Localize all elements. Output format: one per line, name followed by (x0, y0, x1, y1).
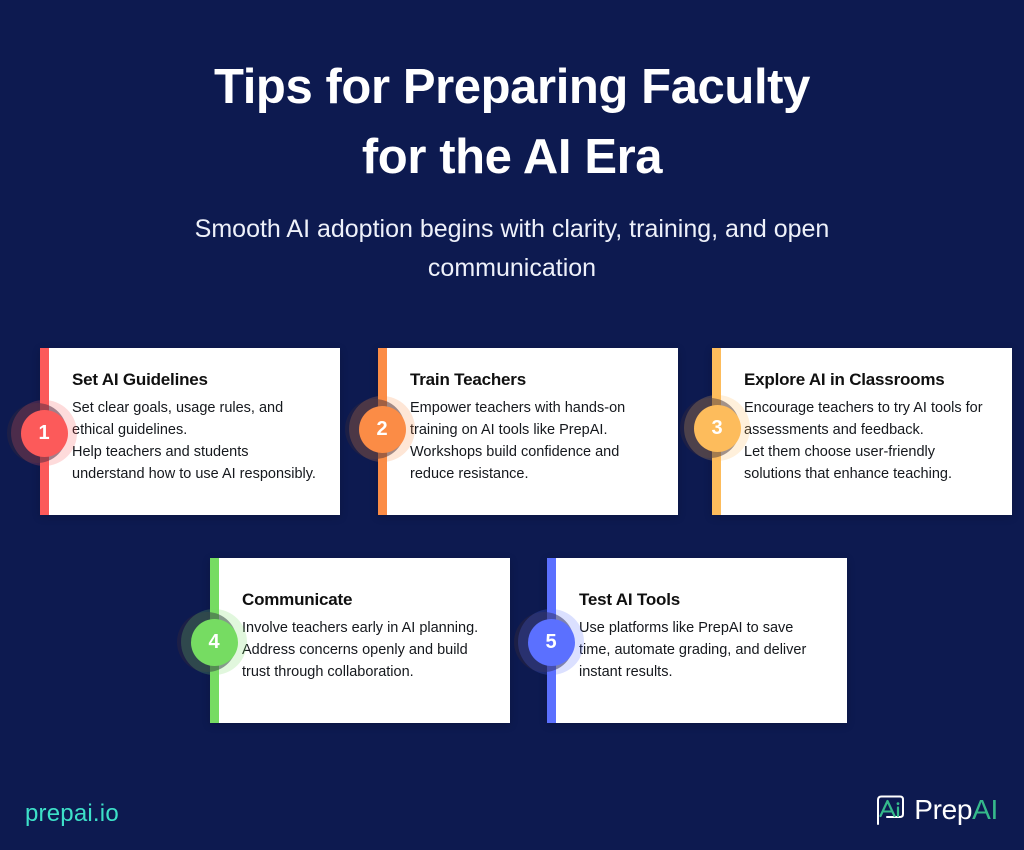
page-title: Tips for Preparing Facultyfor the AI Era (0, 52, 1024, 192)
tip-card-5-number: 5 (545, 631, 556, 654)
prepai-brand-logo: PrepAI (875, 794, 998, 826)
tip-card-2-number-badge: 2 (349, 396, 415, 462)
tip-card-1: Set AI Guidelines Set clear goals, usage… (40, 348, 340, 515)
tip-card-1-badge-circle: 1 (21, 410, 68, 457)
tip-card-2-badge-circle: 2 (359, 406, 406, 453)
tip-card-3: Explore AI in Classrooms Encourage teach… (712, 348, 1012, 515)
prepai-logo-text: PrepAI (914, 796, 998, 824)
page-title-line-2: for the AI Era (362, 130, 662, 184)
tip-card-5-number-badge: 5 (518, 609, 584, 675)
tip-card-4-text: Involve teachers early in AI planning. A… (242, 617, 490, 683)
tip-card-3-title: Explore AI in Classrooms (744, 369, 992, 390)
tip-card-4-title: Communicate (242, 589, 490, 610)
tip-card-2-body: Train Teachers Empower teachers with han… (387, 348, 678, 515)
tip-card-3-text: Encourage teachers to try AI tools for a… (744, 397, 992, 485)
tip-card-1-number-badge: 1 (11, 400, 77, 466)
page-title-line-1: Tips for Preparing Faculty (214, 60, 810, 114)
tip-card-1-text: Set clear goals, usage rules, and ethica… (72, 397, 320, 485)
tip-card-4-badge-circle: 4 (191, 619, 238, 666)
tip-card-5-text: Use platforms like PrepAI to save time, … (579, 617, 827, 683)
page-subtitle: Smooth AI adoption begins with clarity, … (0, 210, 1024, 288)
tip-card-3-number: 3 (711, 417, 722, 440)
infographic-poster: Tips for Preparing Facultyfor the AI Era… (0, 0, 1024, 850)
tip-card-2-title: Train Teachers (410, 369, 658, 390)
footer-website-url[interactable]: prepai.io (25, 800, 119, 828)
tip-card-3-badge-circle: 3 (694, 405, 741, 452)
tip-card-5: Test AI Tools Use platforms like PrepAI … (547, 558, 847, 723)
header: Tips for Preparing Facultyfor the AI Era… (0, 52, 1024, 288)
tip-card-4-number: 4 (208, 631, 219, 654)
tip-card-1-number: 1 (38, 422, 49, 445)
tip-card-1-title: Set AI Guidelines (72, 369, 320, 390)
tip-card-5-body: Test AI Tools Use platforms like PrepAI … (556, 558, 847, 723)
tip-card-1-body: Set AI Guidelines Set clear goals, usage… (49, 348, 340, 515)
tip-card-3-number-badge: 3 (684, 395, 750, 461)
tip-card-4-body: Communicate Involve teachers early in AI… (219, 558, 510, 723)
tip-card-4-number-badge: 4 (181, 609, 247, 675)
tip-card-5-title: Test AI Tools (579, 589, 827, 610)
tip-card-4: Communicate Involve teachers early in AI… (210, 558, 510, 723)
prepai-logo-icon (875, 794, 905, 826)
tip-card-2-number: 2 (376, 418, 387, 441)
tip-card-2: Train Teachers Empower teachers with han… (378, 348, 678, 515)
tip-card-2-text: Empower teachers with hands-on training … (410, 397, 658, 485)
tip-card-3-body: Explore AI in Classrooms Encourage teach… (721, 348, 1012, 515)
prepai-logo-ai: AI (972, 794, 998, 825)
prepai-logo-prep: Prep (914, 794, 972, 825)
tip-card-5-badge-circle: 5 (528, 619, 575, 666)
